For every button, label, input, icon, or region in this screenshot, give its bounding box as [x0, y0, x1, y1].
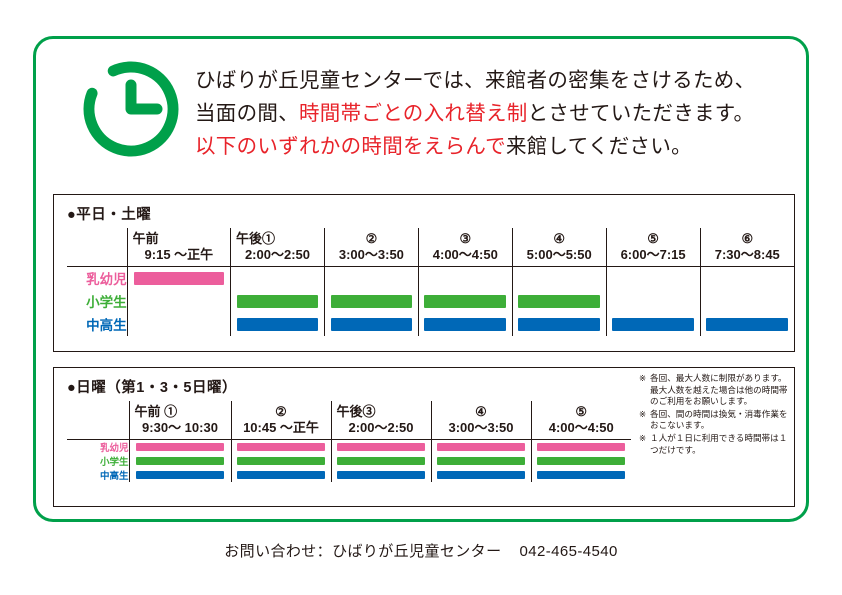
poster-frame: ひばりが丘児童センターでは、来館者の密集をさけるため、 当面の間、時間帯ごとの入…	[33, 36, 809, 522]
availability-bar	[537, 443, 625, 451]
sunday-row-highschool: 中高生	[67, 468, 631, 482]
note-text: 各回、最大人数に制限があります。最大人数を越えた場合は他の時間帯のご利用をお願い…	[650, 373, 789, 408]
footer-telephone: 042-465-4540	[519, 543, 617, 560]
sunday-corner-cell	[67, 401, 129, 440]
note-bullet-icon: ※	[639, 373, 650, 408]
notes-list: ※各回、最大人数に制限があります。最大人数を越えた場合は他の時間帯のご利用をお願…	[639, 373, 789, 457]
availability-bar-empty	[706, 295, 788, 308]
availability-bar	[437, 457, 524, 465]
sunday-column-label: ②	[235, 404, 328, 420]
note-item: ※各回、最大人数に制限があります。最大人数を越えた場合は他の時間帯のご利用をお願…	[639, 373, 789, 408]
availability-bar	[437, 471, 524, 479]
note-bullet-icon: ※	[639, 409, 650, 432]
availability-bar	[237, 471, 324, 479]
sunday-column-header: ②10:45 〜正午	[231, 401, 331, 440]
sunday-column-label: 午後③	[335, 404, 428, 420]
weekday-slot-elementary-4	[418, 290, 512, 313]
header-line-2: 当面の間、時間帯ごとの入れ替え制とさせていただきます。	[195, 97, 755, 130]
weekday-column-time: 7:30〜8:45	[704, 247, 791, 263]
sunday-panel-title: ●日曜（第1・3・5日曜）	[67, 376, 237, 397]
sunday-column-time: 2:00〜2:50	[335, 420, 428, 436]
weekday-slot-infant-5	[512, 267, 606, 290]
sunday-schedule-table: 午前 ①9:30〜 10:30②10:45 〜正午午後③2:00〜2:50④3:…	[67, 401, 631, 482]
sunday-column-label: ⑤	[535, 404, 629, 420]
weekday-column-label: ②	[328, 231, 415, 247]
availability-bar-empty	[134, 295, 224, 308]
footer-contact-label: お問い合わせ：ひばりが丘児童センター	[224, 543, 501, 560]
sunday-slot-infant-4	[431, 440, 531, 455]
weekday-column-time: 6:00〜7:15	[610, 247, 697, 263]
weekday-slot-highschool-6	[606, 313, 700, 336]
weekday-slot-highschool-1	[127, 313, 230, 336]
availability-bar	[424, 318, 506, 331]
availability-bar	[134, 272, 224, 285]
weekday-column-time: 3:00〜3:50	[328, 247, 415, 263]
weekday-row-elementary: 小学生	[67, 290, 794, 313]
header-line-3: 以下のいずれかの時間をえらんで来館してください。	[195, 130, 755, 163]
weekday-column-header: ②3:00〜3:50	[324, 228, 418, 267]
availability-bar	[612, 318, 694, 331]
sunday-column-time: 4:00〜4:50	[535, 420, 629, 436]
availability-bar-empty	[134, 318, 224, 331]
weekday-row-label-infant: 乳幼児	[67, 267, 127, 290]
header-text: ひばりが丘児童センターでは、来館者の密集をさけるため、 当面の間、時間帯ごとの入…	[195, 56, 755, 163]
sunday-slot-elementary-1	[129, 454, 231, 468]
weekday-slot-infant-3	[324, 267, 418, 290]
weekday-table-body: 乳幼児小学生中高生	[67, 267, 794, 336]
header-line-2-pre: 当面の間、	[195, 102, 299, 125]
sunday-column-header: ④3:00〜3:50	[431, 401, 531, 440]
weekday-column-header: ④5:00〜5:50	[512, 228, 606, 267]
weekday-slot-elementary-1	[127, 290, 230, 313]
sunday-slot-highschool-4	[431, 468, 531, 482]
sunday-slot-elementary-4	[431, 454, 531, 468]
availability-bar	[537, 457, 625, 465]
sunday-header-row: 午前 ①9:30〜 10:30②10:45 〜正午午後③2:00〜2:50④3:…	[67, 401, 631, 440]
weekday-slot-infant-6	[606, 267, 700, 290]
sunday-column-header: 午後③2:00〜2:50	[331, 401, 431, 440]
availability-bar	[136, 471, 225, 479]
availability-bar	[331, 295, 413, 308]
weekday-schedule-panel: ●平日・土曜 午前9:15 〜正午午後①2:00〜2:50②3:00〜3:50③…	[53, 194, 795, 352]
weekday-row-infant: 乳幼児	[67, 267, 794, 290]
availability-bar	[136, 457, 225, 465]
sunday-slot-infant-1	[129, 440, 231, 455]
weekday-column-header: ⑥7:30〜8:45	[700, 228, 794, 267]
sunday-slot-highschool-2	[231, 468, 331, 482]
weekday-slot-infant-1	[127, 267, 230, 290]
weekday-column-header: ⑤6:00〜7:15	[606, 228, 700, 267]
header-line-1: ひばりが丘児童センターでは、来館者の密集をさけるため、	[195, 64, 755, 97]
availability-bar-empty	[612, 295, 694, 308]
header-block: ひばりが丘児童センターでは、来館者の密集をさけるため、 当面の間、時間帯ごとの入…	[36, 39, 806, 163]
availability-bar	[331, 318, 413, 331]
sunday-table-body: 乳幼児小学生中高生	[67, 440, 631, 483]
weekday-row-label-highschool: 中高生	[67, 313, 127, 336]
weekday-column-label: ⑥	[704, 231, 791, 247]
weekday-column-label: 午前	[131, 231, 227, 247]
weekday-slot-highschool-7	[700, 313, 794, 336]
header-line-2-emphasis: 時間帯ごとの入れ替え制	[299, 102, 528, 125]
sunday-slot-highschool-3	[331, 468, 431, 482]
availability-bar	[706, 318, 788, 331]
weekday-slot-elementary-3	[324, 290, 418, 313]
sunday-row-label-infant: 乳幼児	[67, 440, 129, 455]
note-bullet-icon: ※	[639, 433, 650, 456]
weekday-header-row: 午前9:15 〜正午午後①2:00〜2:50②3:00〜3:50③4:00〜4:…	[67, 228, 794, 267]
sunday-slot-elementary-3	[331, 454, 431, 468]
sunday-slot-infant-5	[531, 440, 631, 455]
weekday-corner-cell	[67, 228, 127, 267]
availability-bar-empty	[518, 272, 600, 285]
sunday-slot-highschool-5	[531, 468, 631, 482]
weekday-panel-title: ●平日・土曜	[67, 203, 151, 224]
availability-bar	[237, 457, 324, 465]
weekday-slot-highschool-2	[231, 313, 325, 336]
header-line-3-post: 来館してください。	[506, 135, 692, 158]
weekday-slot-infant-2	[231, 267, 325, 290]
sunday-column-label: ④	[435, 404, 528, 420]
availability-bar	[136, 443, 225, 451]
availability-bar	[337, 443, 424, 451]
availability-bar-empty	[331, 272, 413, 285]
note-text: 各回、間の時間は換気・消毒作業をおこないます。	[650, 409, 789, 432]
weekday-column-label: ③	[422, 231, 509, 247]
weekday-slot-infant-4	[418, 267, 512, 290]
clock-icon	[81, 59, 181, 159]
weekday-column-time: 5:00〜5:50	[516, 247, 603, 263]
sunday-row-infant: 乳幼児	[67, 440, 631, 455]
sunday-slot-highschool-1	[129, 468, 231, 482]
availability-bar	[424, 295, 506, 308]
weekday-slot-elementary-6	[606, 290, 700, 313]
weekday-column-time: 2:00〜2:50	[234, 247, 321, 263]
sunday-row-elementary: 小学生	[67, 454, 631, 468]
weekday-schedule-table: 午前9:15 〜正午午後①2:00〜2:50②3:00〜3:50③4:00〜4:…	[67, 228, 794, 336]
availability-bar-empty	[424, 272, 506, 285]
header-line-2-post: とさせていただきます。	[528, 102, 755, 125]
availability-bar	[337, 471, 424, 479]
sunday-column-label: 午前 ①	[133, 404, 228, 420]
weekday-slot-highschool-5	[512, 313, 606, 336]
weekday-column-label: 午後①	[234, 231, 321, 247]
note-item: ※１人が１日に利用できる時間帯は１つだけです。	[639, 433, 789, 456]
sunday-row-label-elementary: 小学生	[67, 454, 129, 468]
availability-bar-empty	[237, 272, 319, 285]
availability-bar	[537, 471, 625, 479]
availability-bar	[237, 318, 319, 331]
weekday-column-header: 午後①2:00〜2:50	[231, 228, 325, 267]
weekday-slot-elementary-5	[512, 290, 606, 313]
weekday-column-time: 9:15 〜正午	[131, 247, 227, 263]
availability-bar	[237, 295, 319, 308]
weekday-slot-elementary-2	[231, 290, 325, 313]
sunday-slot-elementary-5	[531, 454, 631, 468]
weekday-column-label: ④	[516, 231, 603, 247]
weekday-row-label-elementary: 小学生	[67, 290, 127, 313]
header-line-3-emphasis: 以下のいずれかの時間をえらんで	[195, 135, 506, 158]
weekday-slot-elementary-7	[700, 290, 794, 313]
weekday-column-header: 午前9:15 〜正午	[127, 228, 230, 267]
availability-bar	[518, 295, 600, 308]
weekday-slot-highschool-4	[418, 313, 512, 336]
availability-bar	[237, 443, 324, 451]
footer-contact: お問い合わせ：ひばりが丘児童センター042-465-4540	[0, 540, 842, 561]
availability-bar-empty	[612, 272, 694, 285]
weekday-slot-highschool-3	[324, 313, 418, 336]
weekday-column-label: ⑤	[610, 231, 697, 247]
sunday-column-time: 9:30〜 10:30	[133, 420, 228, 436]
sunday-slot-elementary-2	[231, 454, 331, 468]
weekday-row-highschool: 中高生	[67, 313, 794, 336]
availability-bar	[337, 457, 424, 465]
sunday-schedule-panel: ●日曜（第1・3・5日曜） 午前 ①9:30〜 10:30②10:45 〜正午午…	[53, 367, 795, 507]
availability-bar-empty	[706, 272, 788, 285]
weekday-column-header: ③4:00〜4:50	[418, 228, 512, 267]
sunday-row-label-highschool: 中高生	[67, 468, 129, 482]
availability-bar	[437, 443, 524, 451]
weekday-slot-infant-7	[700, 267, 794, 290]
sunday-slot-infant-3	[331, 440, 431, 455]
availability-bar	[518, 318, 600, 331]
sunday-column-header: ⑤4:00〜4:50	[531, 401, 631, 440]
note-item: ※各回、間の時間は換気・消毒作業をおこないます。	[639, 409, 789, 432]
sunday-column-header: 午前 ①9:30〜 10:30	[129, 401, 231, 440]
sunday-slot-infant-2	[231, 440, 331, 455]
sunday-column-time: 3:00〜3:50	[435, 420, 528, 436]
note-text: １人が１日に利用できる時間帯は１つだけです。	[650, 433, 789, 456]
weekday-column-time: 4:00〜4:50	[422, 247, 509, 263]
sunday-column-time: 10:45 〜正午	[235, 420, 328, 436]
